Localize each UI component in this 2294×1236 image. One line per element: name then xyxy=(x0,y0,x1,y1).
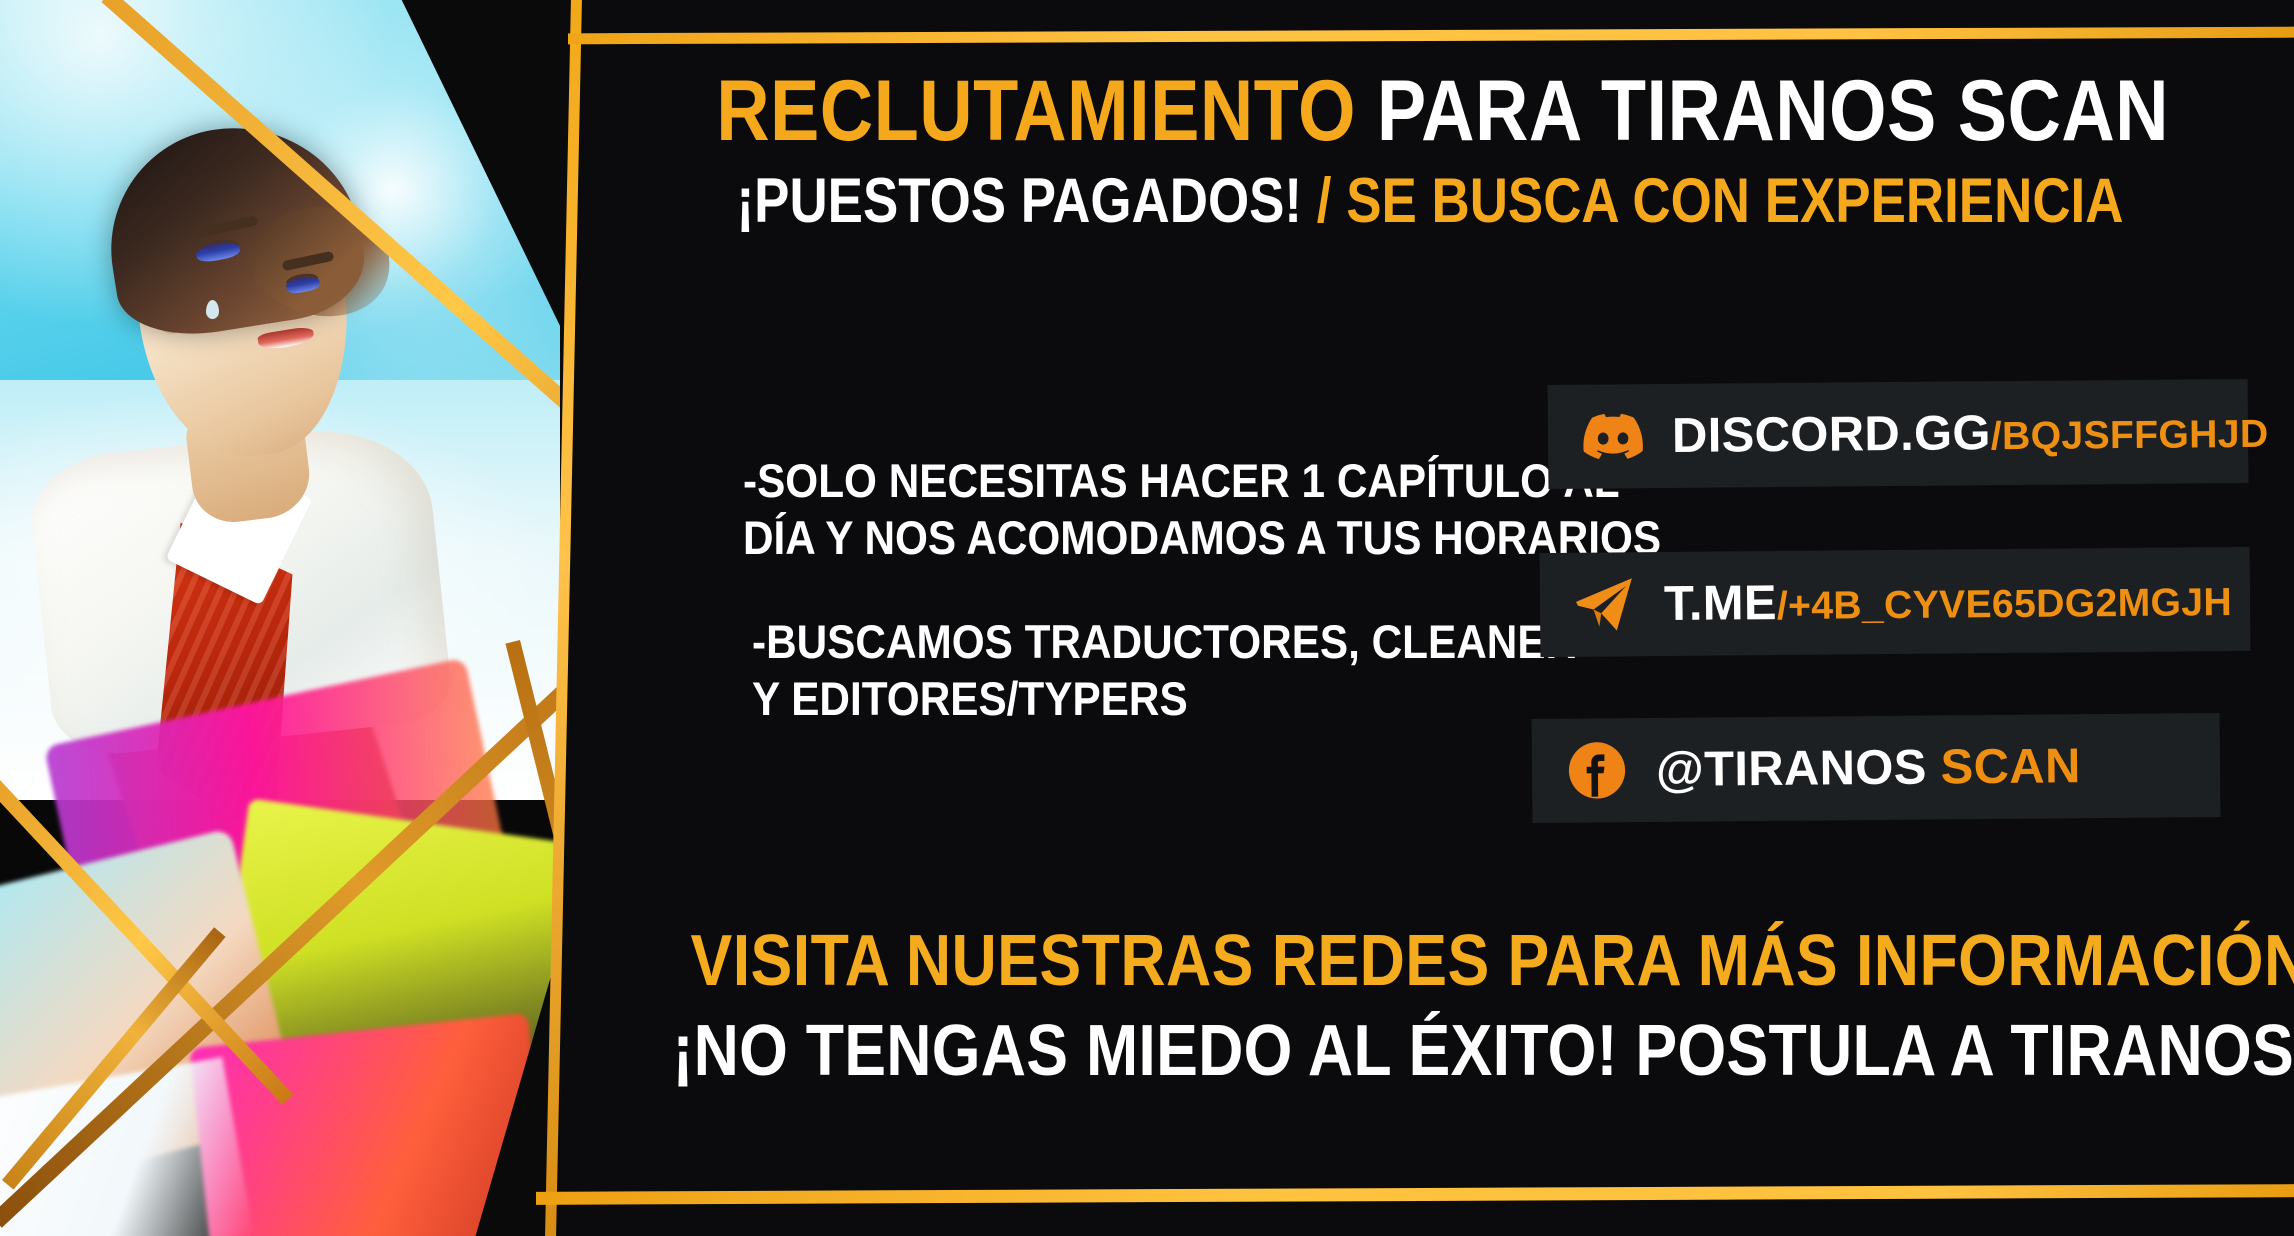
requirement-item: -SOLO NECESITAS HACER 1 CAPÍTULO AL DÍA … xyxy=(743,452,1517,567)
subheadline-paid: ¡PUESTOS PAGADOS! xyxy=(737,166,1303,236)
discord-label: DISCORD.GG/BQJSFFGHJD xyxy=(1672,403,2269,464)
headline-highlight: RECLUTAMIENTO xyxy=(716,63,1356,159)
artwork-panel xyxy=(0,0,640,1236)
requirement-item: -BUSCAMOS TRADUCTORES, CLEANER Y EDITORE… xyxy=(743,613,1517,728)
facebook-label: @TIRANOS SCAN xyxy=(1656,738,2081,798)
telegram-domain: T.ME xyxy=(1664,576,1777,631)
subheadline: ¡PUESTOS PAGADOS! / SE BUSCA CON EXPERIE… xyxy=(733,170,2127,233)
contact-card-discord[interactable]: DISCORD.GG/BQJSFFGHJD xyxy=(1548,379,2249,489)
facebook-handle-suffix: SCAN xyxy=(1940,739,2081,794)
discord-icon xyxy=(1582,405,1645,468)
character-sweat-drop xyxy=(206,300,219,319)
cta-line-primary: VISITA NUESTRAS REDES PARA MÁS INFORMACI… xyxy=(691,920,2170,1002)
subheadline-experience: / SE BUSCA CON EXPERIENCIA xyxy=(1317,166,2124,236)
facebook-handle: @TIRANOS xyxy=(1656,741,1927,797)
requirement-line: Y EDITORES/TYPERS xyxy=(752,670,1517,727)
requirement-line: -BUSCAMOS TRADUCTORES, CLEANER xyxy=(752,613,1517,670)
telegram-handle: /+4B_CYVE65DG2MGJH xyxy=(1777,581,2233,628)
contact-card-telegram[interactable]: T.ME/+4B_CYVE65DG2MGJH xyxy=(1540,547,2251,657)
discord-invite-code: /BQJSFFGHJD xyxy=(1991,413,2269,458)
headline-rest: PARA TIRANOS SCAN xyxy=(1377,63,2169,159)
cta-line-secondary: ¡NO TENGAS MIEDO AL ÉXITO! POSTULA A TIR… xyxy=(672,1010,2177,1092)
facebook-icon xyxy=(1566,739,1629,802)
requirement-line: -SOLO NECESITAS HACER 1 CAPÍTULO AL xyxy=(743,452,1517,509)
telegram-label: T.ME/+4B_CYVE65DG2MGJH xyxy=(1664,571,2232,632)
contact-card-facebook[interactable]: @TIRANOS SCAN xyxy=(1532,713,2221,823)
telegram-icon xyxy=(1574,573,1637,636)
recruitment-banner: RECLUTAMIENTO PARA TIRANOS SCAN ¡PUESTOS… xyxy=(0,0,2294,1236)
requirement-line: DÍA Y NOS ACOMODAMOS A TUS HORARIOS xyxy=(743,509,1517,566)
requirements-list: -SOLO NECESITAS HACER 1 CAPÍTULO AL DÍA … xyxy=(743,452,1517,773)
discord-domain: DISCORD.GG xyxy=(1672,406,1991,463)
headline: RECLUTAMIENTO PARA TIRANOS SCAN xyxy=(716,68,2144,154)
